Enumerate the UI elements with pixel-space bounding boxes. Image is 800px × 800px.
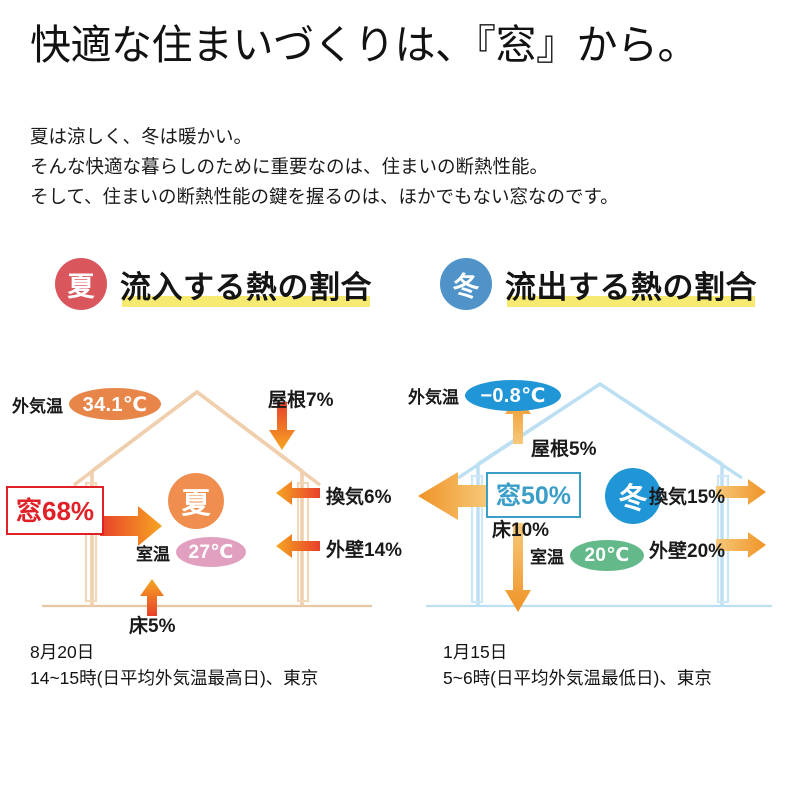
floor-label-winter: 床10%: [492, 515, 549, 542]
lead-line-2: そんな快適な暮らしのために重要なのは、住まいの断熱性能。: [30, 152, 770, 182]
roof-label-summer: 屋根7%: [268, 385, 333, 412]
room-temp-winter: 室温 20℃: [530, 540, 644, 571]
room-temp-summer: 室温 27℃: [136, 537, 246, 567]
season-badge-summer: 夏: [55, 258, 107, 310]
outdoor-temp-pill-winter: −0.8℃: [465, 380, 561, 411]
lead-line-3: そして、住まいの断熱性能の鍵を握るのは、ほかでもない窓なのです。: [30, 182, 770, 212]
outdoor-temp-label-summer: 外気温: [12, 392, 63, 417]
caption-winter: 1月15日 5~6時(日平均外気温最低日)、東京: [443, 640, 712, 692]
page-title: 快適な住まいづくりは、『窓』から。: [30, 22, 775, 69]
section-header-summer: 夏 流入する熱の割合: [55, 258, 372, 310]
outdoor-temp-winter: 外気温 −0.8℃: [408, 380, 561, 411]
room-temp-label-summer: 室温: [136, 540, 170, 565]
caption-winter-line-2: 5~6時(日平均外気温最低日)、東京: [443, 666, 712, 692]
section-heading-summer: 流入する熱の割合: [120, 270, 372, 305]
lead-paragraph: 夏は涼しく、冬は暖かい。 そんな快適な暮らしのために重要なのは、住まいの断熱性能…: [30, 122, 770, 212]
diagram-summer: 外気温 34.1℃ 窓68% 夏 室温 27℃ 屋根7% 換気6% 外壁14% …: [0, 368, 400, 628]
outerwall-label-summer: 外壁14%: [326, 535, 402, 562]
room-temp-pill-winter: 20℃: [570, 540, 644, 571]
section-heading-winter: 流出する熱の割合: [505, 270, 757, 305]
season-badge-winter: 冬: [440, 258, 492, 310]
outdoor-temp-label-winter: 外気温: [408, 383, 459, 408]
outerwall-label-winter: 外壁20%: [649, 536, 725, 563]
season-mark-summer: 夏: [168, 473, 224, 529]
outdoor-temp-summer: 外気温 34.1℃: [12, 388, 161, 420]
room-temp-pill-summer: 27℃: [176, 537, 246, 567]
caption-winter-line-1: 1月15日: [443, 640, 712, 666]
diagram-winter: 外気温 −0.8℃ 屋根5% 窓50% 冬 換気15% 床10% 外壁20% 室…: [400, 368, 800, 628]
room-temp-label-winter: 室温: [530, 543, 564, 568]
section-header-winter: 冬 流出する熱の割合: [440, 258, 757, 310]
section-heading-summer-wrap: 流入する熱の割合: [120, 262, 372, 307]
caption-summer: 8月20日 14~15時(日平均外気温最高日)、東京: [30, 640, 318, 692]
roof-label-winter: 屋根5%: [531, 434, 596, 461]
window-callout-winter: 窓50%: [486, 472, 581, 518]
floor-label-summer: 床5%: [129, 611, 175, 638]
ventilation-label-summer: 換気6%: [326, 482, 391, 509]
section-heading-winter-wrap: 流出する熱の割合: [505, 262, 757, 307]
caption-summer-line-2: 14~15時(日平均外気温最高日)、東京: [30, 666, 318, 692]
ventilation-label-winter: 換気15%: [649, 482, 725, 509]
infographic-page: 快適な住まいづくりは、『窓』から。 夏は涼しく、冬は暖かい。 そんな快適な暮らし…: [0, 0, 800, 800]
window-callout-summer: 窓68%: [6, 486, 104, 535]
outdoor-temp-pill-summer: 34.1℃: [69, 388, 161, 420]
lead-line-1: 夏は涼しく、冬は暖かい。: [30, 122, 770, 152]
caption-summer-line-1: 8月20日: [30, 640, 318, 666]
